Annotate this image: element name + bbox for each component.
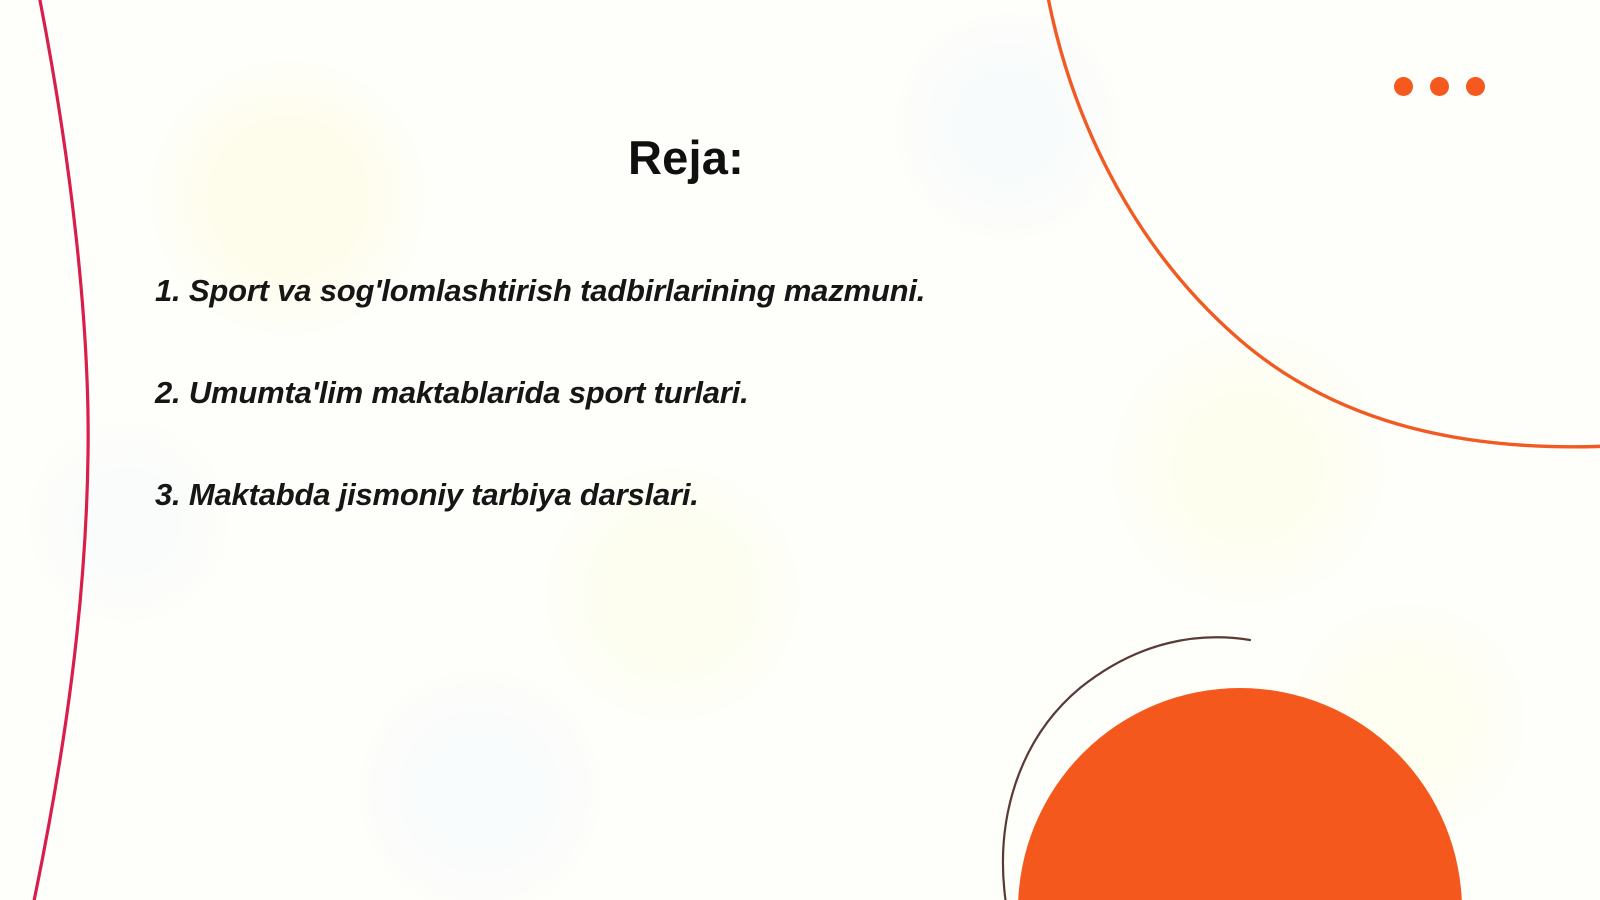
- dot-icon-3: [1466, 77, 1485, 96]
- orange-filled-circle-icon: [1018, 688, 1462, 900]
- plan-list: 1. Sport va sog'lomlashtirish tadbirlari…: [155, 272, 1155, 514]
- dot-icon-2: [1430, 77, 1449, 96]
- thin-dark-arc-icon: [1003, 637, 1250, 900]
- dot-icon-1: [1394, 77, 1413, 96]
- list-item: 3. Maktabda jismoniy tarbiya darslari.: [155, 476, 1155, 513]
- list-item: 1. Sport va sog'lomlashtirish tadbirlari…: [155, 272, 1155, 309]
- list-item: 2. Umumta'lim maktablarida sport turlari…: [155, 374, 1155, 411]
- bottom-right-ornament: [950, 610, 1600, 900]
- page-title: Reja:: [0, 132, 1372, 184]
- three-dots-ornament: [1394, 77, 1485, 96]
- slide-canvas: Reja: 1. Sport va sog'lomlashtirish tadb…: [0, 0, 1600, 900]
